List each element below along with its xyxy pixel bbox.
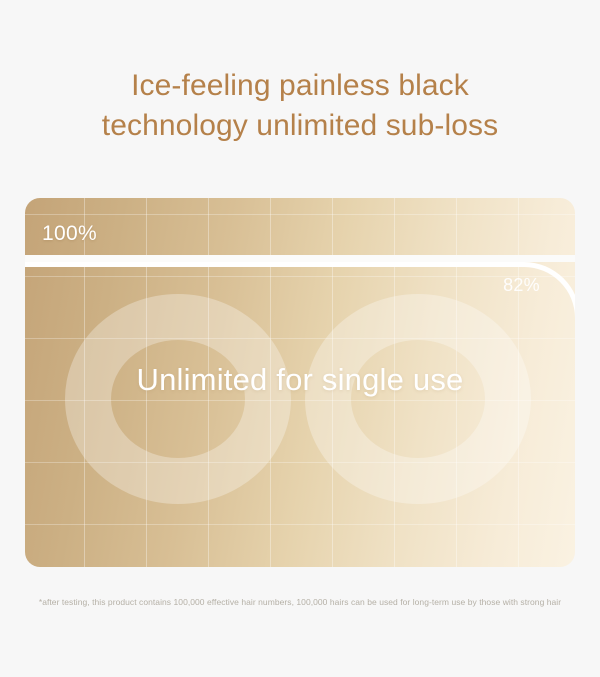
- bar-100-percent: [25, 198, 575, 255]
- page-title-line-1: Ice-feeling painless black: [0, 66, 600, 106]
- infinity-icon: [25, 294, 575, 509]
- page-title-line-2: technology unlimited sub-loss: [0, 106, 600, 146]
- infinity-ring-left: [65, 294, 291, 504]
- bar-82-percent-curve: [25, 262, 575, 332]
- usage-chart-card: 100% 82% Unlimited for single use: [25, 198, 575, 567]
- bar-82-percent-label: 82%: [503, 276, 540, 294]
- infinity-ring-right: [305, 294, 531, 504]
- footnote-text: *after testing, this product contains 10…: [0, 596, 600, 608]
- card-center-headline: Unlimited for single use: [25, 362, 575, 398]
- bar-100-percent-label: 100%: [42, 223, 97, 244]
- bar-separator: [25, 255, 575, 262]
- page-title: Ice-feeling painless black technology un…: [0, 66, 600, 146]
- bar-82-percent-sweep-line: [25, 262, 575, 332]
